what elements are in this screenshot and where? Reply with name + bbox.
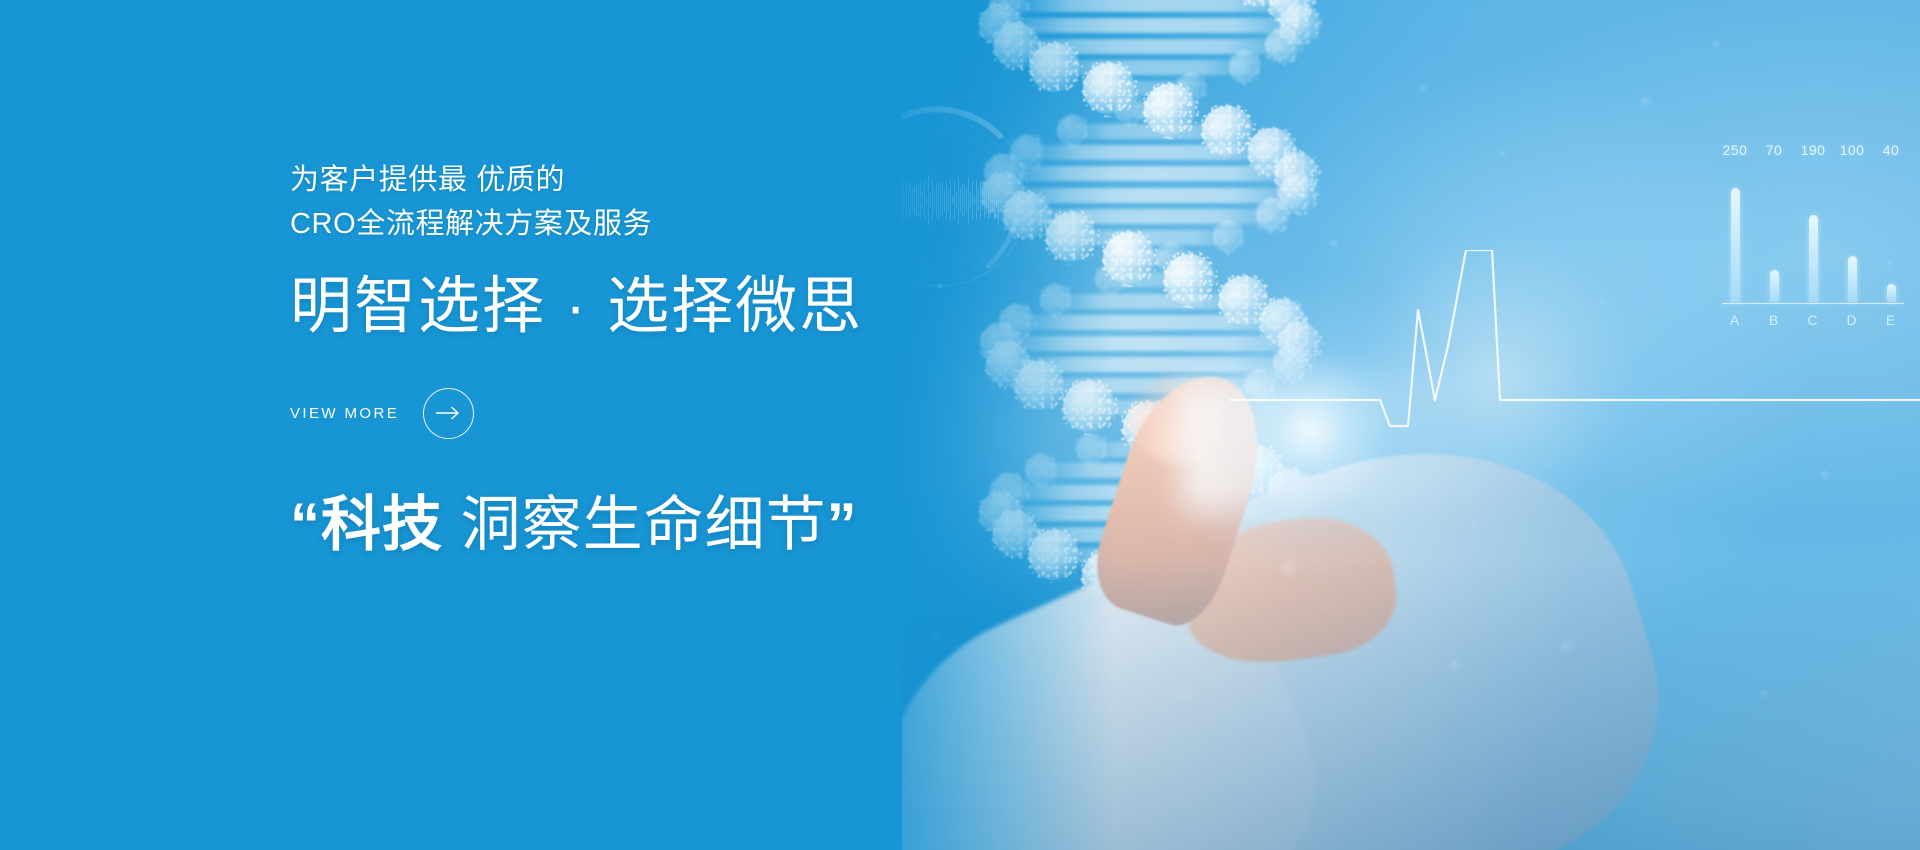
- chart-bar-rect: [1809, 215, 1818, 302]
- bokeh-dot: [1712, 40, 1720, 48]
- dna-nucleotide: [1256, 198, 1291, 233]
- chart-axis-line: [1722, 303, 1904, 305]
- chart-bar-value: 40: [1883, 142, 1900, 158]
- chart-category-label: C: [1804, 312, 1822, 328]
- quote-close-mark: ”: [827, 491, 858, 558]
- chart-bar-rect: [1770, 270, 1779, 302]
- quote-open-mark: “: [290, 491, 321, 558]
- hero-subtitle: 为客户提供最 优质的 CRO全流程解决方案及服务: [290, 158, 1050, 246]
- quote-light-text: 洞察生命细节: [443, 491, 827, 558]
- chart-category-label: E: [1882, 312, 1900, 328]
- chart-bar-value: 70: [1766, 142, 1783, 158]
- arrow-right-icon[interactable]: [423, 388, 474, 439]
- chart-bar-value: 250: [1723, 142, 1748, 158]
- bokeh-dot: [1640, 96, 1653, 109]
- hero-quote: “科技 洞察生命细节”: [290, 491, 1050, 558]
- chart-category-label: A: [1726, 312, 1744, 328]
- chart-bar-rect: [1848, 256, 1857, 302]
- hero-subtitle-line-2: CRO全流程解决方案及服务: [290, 202, 1050, 246]
- hero-headline: 明智选择 · 选择微思: [290, 272, 1050, 341]
- view-more-label: VIEW MORE: [290, 405, 399, 422]
- chart-bar-rect: [1731, 188, 1740, 302]
- chart-bar-D: 100: [1843, 162, 1861, 302]
- bokeh-dot: [1470, 520, 1479, 529]
- chart-bar-rect: [1887, 284, 1896, 302]
- chart-bar-A: 250: [1726, 162, 1744, 302]
- bokeh-dot: [1418, 84, 1428, 94]
- dna-nucleotide: [1229, 51, 1261, 83]
- quote-strong-text: 科技: [321, 491, 443, 558]
- bokeh-dot: [1820, 470, 1831, 481]
- bokeh-dot: [1600, 300, 1606, 306]
- chart-category-label: B: [1765, 312, 1783, 328]
- dna-nucleotide: [1265, 28, 1301, 64]
- chart-bar-B: 70: [1765, 162, 1783, 302]
- chart-bar-value: 100: [1840, 142, 1865, 158]
- bokeh-dot: [1500, 150, 1507, 157]
- chart-category-label: D: [1843, 312, 1861, 328]
- chart-bar-C: 190: [1804, 162, 1822, 302]
- bokeh-dot: [1330, 240, 1338, 248]
- chart-bar-E: 40: [1882, 162, 1900, 302]
- chart-bar-value: 190: [1801, 142, 1826, 158]
- hud-bar-chart: 2507019010040 ABCDE: [1718, 150, 1908, 330]
- dna-nucleotide: [1213, 221, 1245, 253]
- view-more-button[interactable]: VIEW MORE: [290, 388, 474, 439]
- hero-banner: 2507019010040 ABCDE 为客户提供最 优质的 CRO全流程解决方…: [0, 0, 1920, 850]
- hero-content: 为客户提供最 优质的 CRO全流程解决方案及服务 明智选择 · 选择微思 VIE…: [290, 158, 1050, 558]
- hero-subtitle-line-1: 为客户提供最 优质的: [290, 158, 1050, 202]
